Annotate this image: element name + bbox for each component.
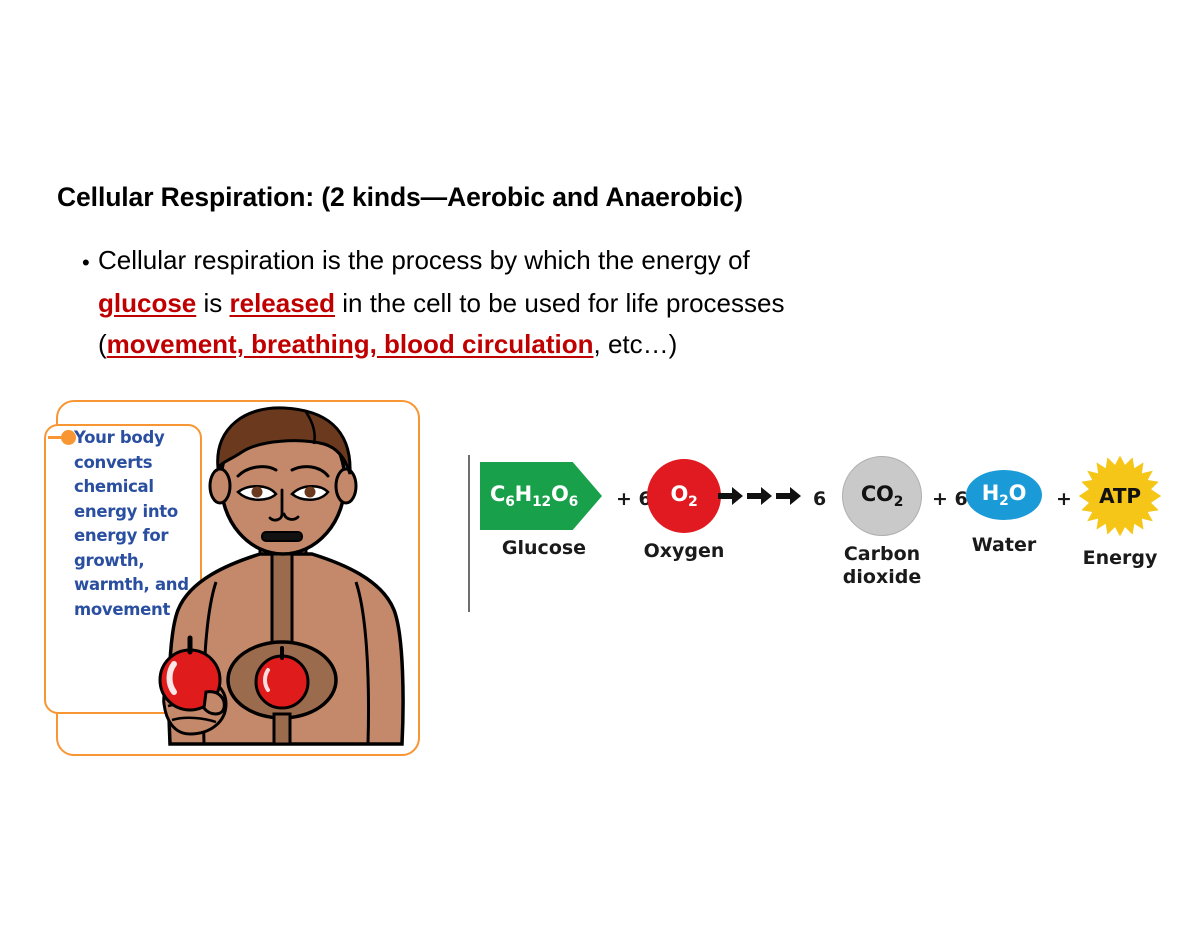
highlight-glucose: glucose xyxy=(98,288,196,318)
glucose-formula: C6H12O6 xyxy=(480,482,578,510)
bullet-text-2b: in the cell to be used for life processe… xyxy=(335,288,784,318)
glucose-shape: C6H12O6 xyxy=(480,462,602,530)
bullet-text-2a: is xyxy=(196,288,229,318)
highlight-released: released xyxy=(229,288,335,318)
water-shape: H2O xyxy=(966,470,1042,520)
oxygen-formula: O2 xyxy=(670,482,697,510)
water-label: Water xyxy=(956,534,1052,557)
bullet-list: •Cellular respiration is the process by … xyxy=(82,240,962,365)
bullet-text-1: Cellular respiration is the process by w… xyxy=(98,245,750,275)
oxygen-label: Oxygen xyxy=(636,540,732,563)
bullet-marker: • xyxy=(82,242,98,283)
paren-close: , etc…) xyxy=(594,329,678,359)
cartoon-person-figure xyxy=(156,404,418,756)
paren-open: ( xyxy=(98,329,107,359)
equation-item-oxygen: O2 Oxygen xyxy=(636,459,732,563)
carbon-dioxide-shape: CO2 xyxy=(842,456,922,536)
highlight-life-processes: movement, breathing, blood circulation xyxy=(107,329,594,359)
arrow-right-icon-2 xyxy=(747,486,773,506)
carbon-dioxide-label-line2: dioxide xyxy=(830,566,934,589)
equation-item-carbon-dioxide: CO2 Carbon dioxide xyxy=(830,456,934,589)
equation-item-water: H2O Water xyxy=(956,470,1052,557)
atp-starburst-shape: ATP xyxy=(1078,454,1162,538)
bullet-line-3: (movement, breathing, blood circulation,… xyxy=(82,324,962,365)
bullet-line-2: glucose is released in the cell to be us… xyxy=(82,283,962,324)
arrow-right-icon-3 xyxy=(776,486,802,506)
operator-plus-energy: + xyxy=(1056,488,1072,510)
equation-item-energy: ATP Energy xyxy=(1072,454,1168,570)
equation-left-rule xyxy=(468,455,470,612)
oxygen-shape: O2 xyxy=(647,459,721,533)
glucose-label: Glucose xyxy=(480,537,608,560)
body-energy-illustration: Your body converts chemical energy into … xyxy=(44,392,436,767)
atp-formula: ATP xyxy=(1078,484,1162,508)
energy-label: Energy xyxy=(1072,547,1168,570)
carbon-dioxide-label-line1: Carbon xyxy=(830,543,934,566)
cellular-respiration-equation: C6H12O6 Glucose + 6 O2 Oxygen 6 CO2 Carb… xyxy=(468,450,1200,615)
water-formula: H2O xyxy=(982,481,1027,509)
carbon-dioxide-formula: CO2 xyxy=(861,482,903,510)
page-title: Cellular Respiration: (2 kinds—Aerobic a… xyxy=(57,182,743,213)
bullet-line-1: •Cellular respiration is the process by … xyxy=(82,240,962,283)
yields-arrows xyxy=(718,486,802,506)
arrow-right-icon-1 xyxy=(718,486,744,506)
equation-item-glucose: C6H12O6 Glucose xyxy=(480,462,608,560)
coefficient-co2: 6 xyxy=(813,488,826,510)
